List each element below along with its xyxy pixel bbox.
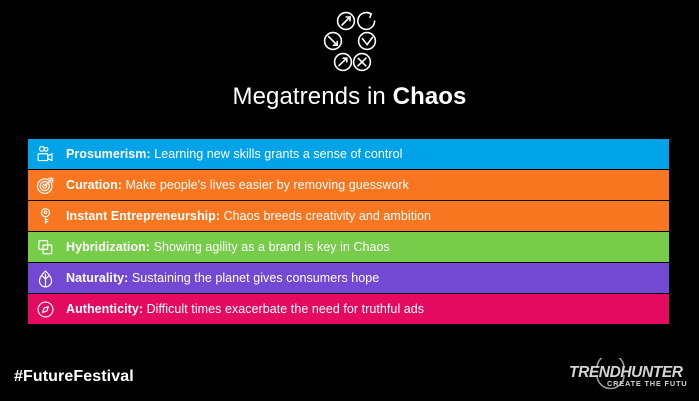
trend-description: Learning new skills grants a sense of co… [154,147,402,161]
trend-description: Showing agility as a brand is key in Cha… [154,240,390,254]
brand-tagline: CREATE THE FUTURE [607,379,687,388]
trend-row-curation[interactable]: Curation: Make people's lives easier by … [28,170,669,200]
video-camera-icon [28,139,62,169]
trendhunter-logo-icon: TRENDHUNTER CREATE THE FUTURE [563,358,687,390]
trend-text: Authenticity: Difficult times exacerbate… [62,303,669,316]
trend-description: Difficult times exacerbate the need for … [147,302,425,316]
trend-row-instant-entrepreneurship[interactable]: Instant Entrepreneurship: Chaos breeds c… [28,201,669,231]
trend-text: Naturality: Sustaining the planet gives … [62,272,669,285]
key-icon [28,201,62,231]
compass-icon [28,294,62,324]
trend-label: Curation: [66,178,122,192]
hashtag-future-festival: #FutureFestival [14,368,134,386]
trend-text: Prosumerism: Learning new skills grants … [62,148,669,161]
trend-text: Instant Entrepreneurship: Chaos breeds c… [62,210,669,223]
target-dart-icon [28,170,62,200]
page-title: Megatrends in Chaos [0,83,699,111]
trend-label: Prosumerism: [66,147,151,161]
title-prefix: Megatrends in [232,83,392,110]
trend-label: Hybridization: [66,240,150,254]
trend-row-prosumerism[interactable]: Prosumerism: Learning new skills grants … [28,139,669,169]
chaos-ring-icon [0,6,699,80]
trend-label: Instant Entrepreneurship: [66,209,220,223]
trend-description: Sustaining the planet gives consumers ho… [132,271,379,285]
title-emphasis: Chaos [393,83,467,110]
trend-row-authenticity[interactable]: Authenticity: Difficult times exacerbate… [28,294,669,324]
slide-root: Megatrends in Chaos Prosumerism: Learnin… [0,0,699,401]
trend-row-hybridization[interactable]: Hybridization: Showing agility as a bran… [28,232,669,262]
trend-description: Make people's lives easier by removing g… [126,178,409,192]
overlapping-squares-icon [28,232,62,262]
trend-description: Chaos breeds creativity and ambition [224,209,431,223]
leaf-icon [28,263,62,293]
trend-row-naturality[interactable]: Naturality: Sustaining the planet gives … [28,263,669,293]
trend-text: Hybridization: Showing agility as a bran… [62,241,669,254]
trend-text: Curation: Make people's lives easier by … [62,179,669,192]
trend-label: Authenticity: [66,302,143,316]
trend-list: Prosumerism: Learning new skills grants … [28,139,669,325]
trend-label: Naturality: [66,271,128,285]
